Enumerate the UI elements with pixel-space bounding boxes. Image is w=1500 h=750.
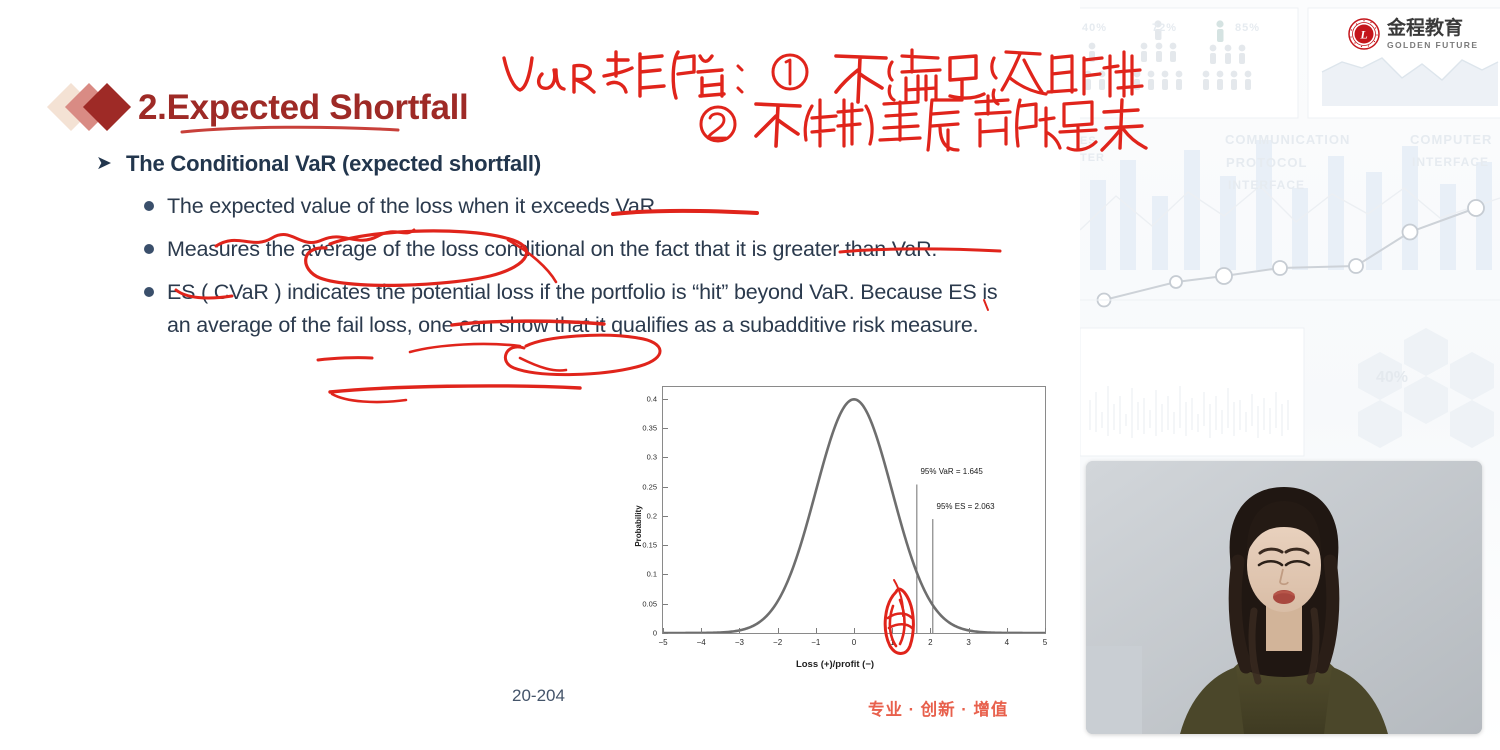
chart-x-tick-mark: [701, 628, 702, 633]
chart-y-tick-mark: [663, 604, 668, 605]
chart-y-tick-label: 0.1: [647, 570, 657, 579]
chart-y-tick-label: 0.3: [647, 453, 657, 462]
chart-x-tick-mark: [1045, 628, 1046, 633]
normal-curve: [663, 399, 1045, 633]
list-item: Measures the average of the loss conditi…: [144, 233, 1026, 266]
chart-x-tick-mark: [969, 628, 970, 633]
background-text-percent-b: 72%: [1152, 22, 1177, 34]
chart-y-tick-mark: [663, 399, 668, 400]
bullet-text: The expected value of the loss when it e…: [167, 190, 661, 223]
chart-y-tick-label: 0.4: [647, 394, 657, 403]
chart-x-tick-mark: [778, 628, 779, 633]
background-text-protocol: PROTOCOL: [1226, 155, 1307, 170]
chart-x-axis-label: Loss (+)/profit (−): [796, 659, 874, 670]
chart-x-tick-label: −5: [658, 638, 667, 647]
page-number: 20-204: [512, 686, 565, 706]
chart-x-tick-mark: [663, 628, 664, 633]
diamond-decoration-icon: [52, 79, 138, 135]
chart-x-tick-mark: [816, 628, 817, 633]
chart-x-tick-label: 0: [852, 638, 856, 647]
background-text-es: ES: [1080, 135, 1097, 147]
brand-motto: 专业 · 创新 · 增值: [868, 696, 1008, 720]
chart-y-tick-label: 0.2: [647, 511, 657, 520]
background-text-percent-c: 85%: [1235, 22, 1260, 34]
chart-x-tick-label: −2: [773, 638, 782, 647]
section-heading-row: ➤ The Conditional VaR (expected shortfal…: [96, 150, 1026, 178]
chart-y-tick-mark: [663, 574, 668, 575]
distribution-chart: Probability Loss (+)/profit (−) 00.050.1…: [620, 380, 1050, 672]
slide-canvas: 2.Expected Shortfall ➤ The Conditional V…: [0, 0, 1080, 750]
bullet-text: Measures the average of the loss conditi…: [167, 233, 937, 266]
es-annotation-label: 95% ES = 2.063: [937, 502, 995, 511]
chart-y-tick-label: 0: [653, 629, 657, 638]
chart-x-tick-label: 1: [890, 638, 894, 647]
background-text-percent-a: 40%: [1082, 22, 1107, 34]
dot-bullet-icon: [144, 201, 154, 211]
background-infographic: 40%: [1080, 0, 1500, 470]
background-text-interface: INTERFACE: [1228, 178, 1305, 192]
chart-x-tick-label: −3: [735, 638, 744, 647]
chart-y-tick-label: 0.35: [642, 424, 657, 433]
chart-x-tick-mark: [930, 628, 931, 633]
background-text-computer: COMPUTER: [1410, 132, 1492, 147]
list-item: ES ( CVaR ) indicates the potential loss…: [144, 276, 1026, 342]
background-text-interface2: INTERFACE: [1412, 155, 1489, 169]
chart-x-tick-mark: [1007, 628, 1008, 633]
bullet-text: ES ( CVaR ) indicates the potential loss…: [167, 276, 1017, 342]
list-item: The expected value of the loss when it e…: [144, 190, 1026, 223]
svg-text:40%: 40%: [1376, 369, 1408, 386]
chart-x-tick-label: −4: [697, 638, 706, 647]
chart-x-tick-label: 3: [966, 638, 970, 647]
chart-y-tick-mark: [663, 457, 668, 458]
chart-y-tick-mark: [663, 633, 668, 634]
brand-name-block: 金程教育 GOLDEN FUTURE: [1387, 19, 1478, 50]
chart-x-tick-label: 5: [1043, 638, 1047, 647]
chart-x-tick-mark: [892, 628, 893, 633]
chart-plot-area: 00.050.10.150.20.250.30.350.4 −5−4−3−2−1…: [662, 386, 1046, 634]
chart-y-tick-label: 0.15: [642, 541, 657, 550]
dot-bullet-icon: [144, 287, 154, 297]
slide-body: ➤ The Conditional VaR (expected shortfal…: [96, 150, 1026, 352]
chart-y-tick-mark: [663, 487, 668, 488]
chart-x-tick-label: 4: [1005, 638, 1009, 647]
arrow-bullet-icon: ➤: [96, 150, 112, 178]
brand-name-en: GOLDEN FUTURE: [1387, 40, 1478, 50]
background-hexagons: [1358, 328, 1494, 448]
screen: 2.Expected Shortfall ➤ The Conditional V…: [0, 0, 1500, 750]
background-text-ter: TER: [1080, 152, 1105, 164]
presenter-video[interactable]: [1086, 461, 1482, 734]
chart-y-tick-mark: [663, 428, 668, 429]
background-text-communication: COMMUNICATION: [1225, 132, 1350, 147]
chart-x-tick-label: −1: [811, 638, 820, 647]
chart-x-tick-label: 2: [928, 638, 932, 647]
chart-y-tick-label: 0.05: [642, 599, 657, 608]
chart-x-tick-mark: [854, 628, 855, 633]
chart-y-tick-mark: [663, 545, 668, 546]
var-annotation-label: 95% VaR = 1.645: [920, 467, 982, 476]
seal-icon: L: [1348, 18, 1380, 50]
presenter-image: [1086, 461, 1482, 734]
chart-y-tick-label: 0.25: [642, 482, 657, 491]
brand-name-cn: 金程教育: [1387, 19, 1478, 38]
section-heading: The Conditional VaR (expected shortfall): [126, 150, 541, 178]
slide-title-row: 2.Expected Shortfall: [52, 76, 468, 138]
page-title: 2.Expected Shortfall: [138, 90, 468, 125]
dot-bullet-icon: [144, 244, 154, 254]
svg-text:L: L: [1359, 28, 1367, 42]
chart-y-tick-mark: [663, 516, 668, 517]
chart-x-tick-mark: [739, 628, 740, 633]
brand-logo: L 金程教育 GOLDEN FUTURE: [1348, 18, 1478, 50]
